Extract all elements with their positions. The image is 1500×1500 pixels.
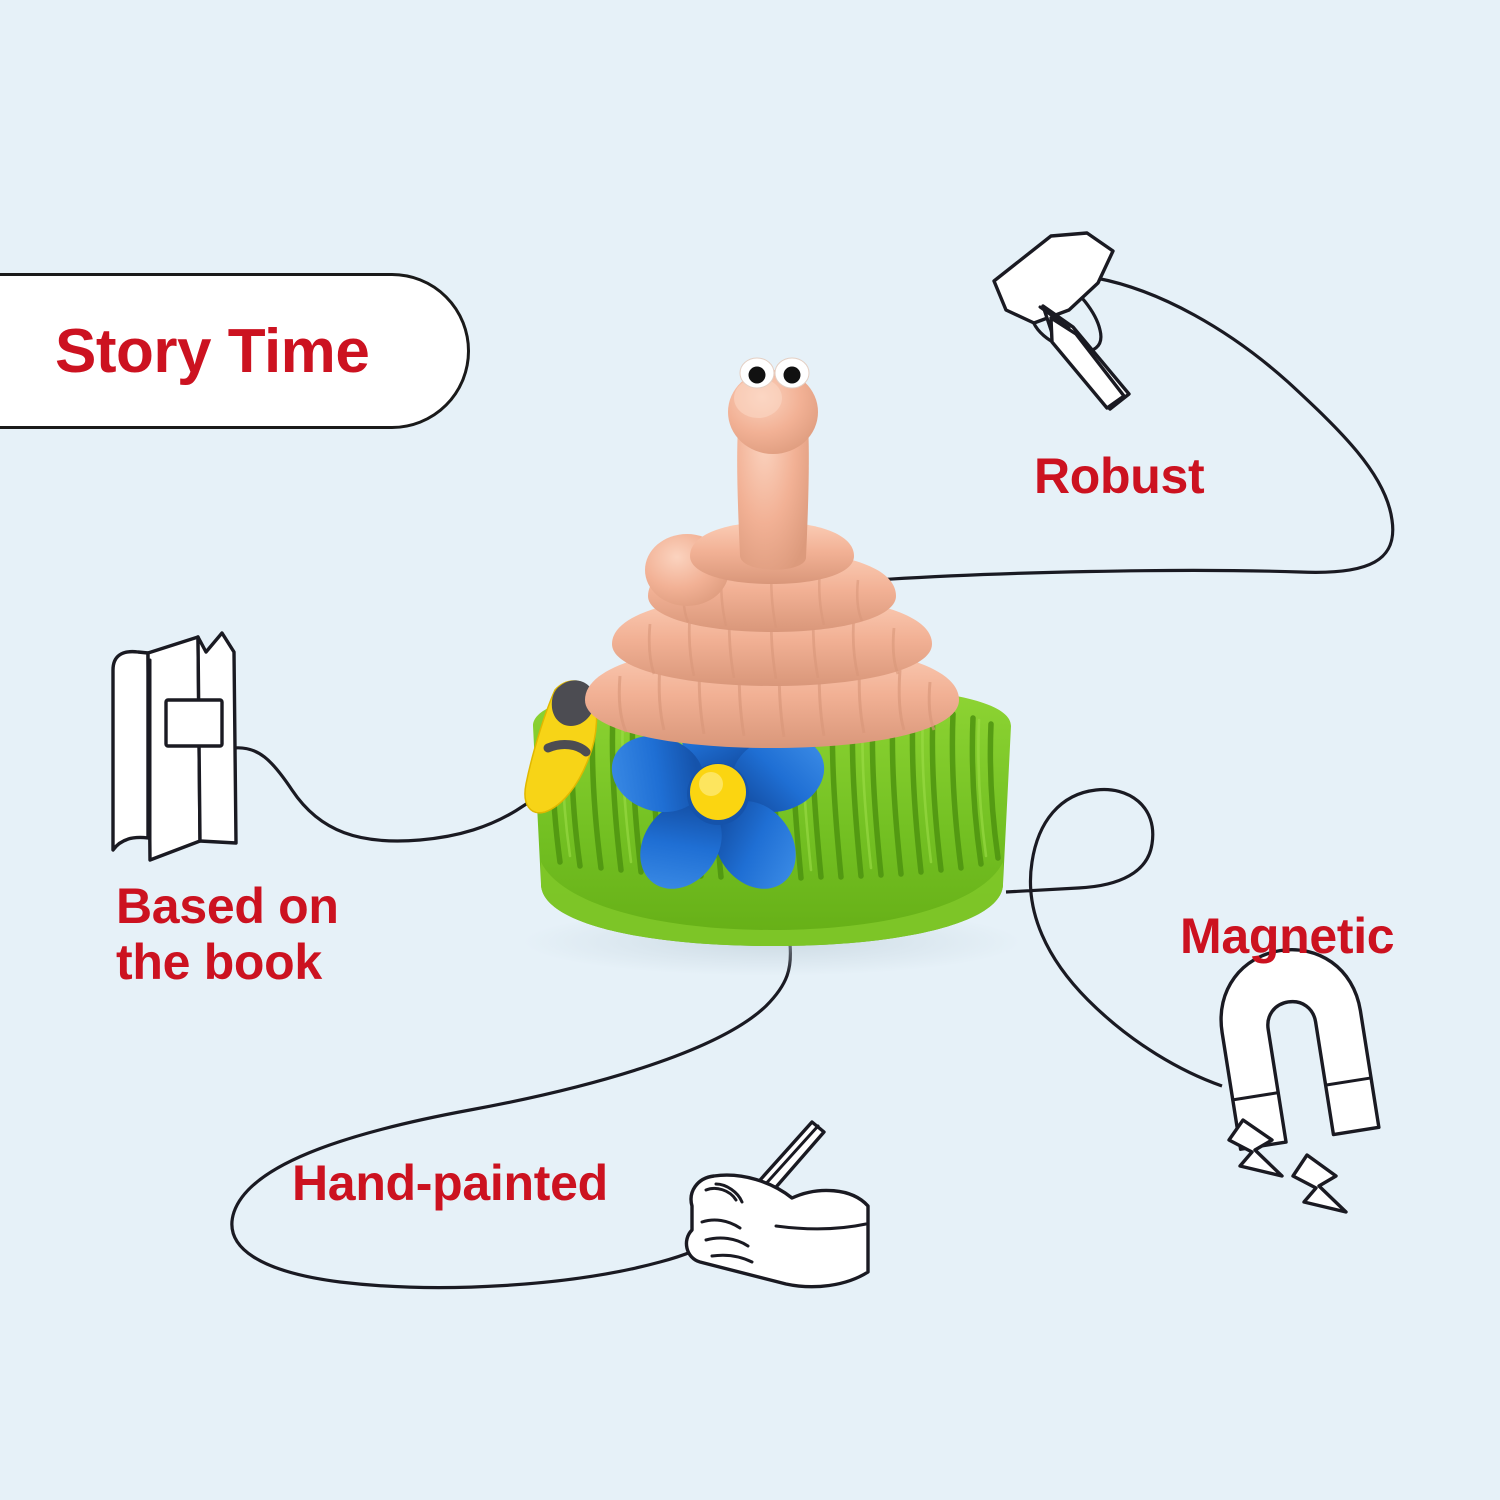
story-time-badge-label: Story Time bbox=[55, 316, 369, 387]
worm-eyes bbox=[740, 358, 809, 388]
hammer-icon bbox=[994, 233, 1129, 409]
connector-line-handpainted bbox=[232, 944, 791, 1288]
feature-icons-layer bbox=[0, 0, 1500, 1500]
story-time-badge: Story Time bbox=[0, 273, 470, 429]
worm-coils bbox=[585, 522, 959, 748]
feature-label-robust: Robust bbox=[1034, 448, 1204, 504]
connector-line-book bbox=[234, 706, 636, 841]
magnet-sparks-icon bbox=[1229, 1120, 1346, 1212]
feature-label-magnetic: Magnetic bbox=[1180, 908, 1394, 964]
book-icon bbox=[113, 633, 236, 860]
product-figurine bbox=[0, 0, 1500, 1500]
feature-label-hand-painted: Hand-painted bbox=[292, 1155, 608, 1211]
grass-blades-highlight bbox=[562, 705, 986, 870]
connector-line-robust bbox=[876, 276, 1393, 580]
worm-tail-lump bbox=[645, 534, 729, 606]
hand-with-paintbrush-icon bbox=[686, 1122, 868, 1287]
connector-lines-layer bbox=[0, 0, 1500, 1500]
grass-base bbox=[533, 684, 1011, 946]
infographic-canvas: Story Time Robust Based on the book Magn… bbox=[0, 0, 1500, 1500]
feature-label-based-on-the-book: Based on the book bbox=[116, 878, 339, 990]
magnet-icon bbox=[1211, 940, 1379, 1150]
bee-figure bbox=[525, 680, 597, 812]
product-shadow bbox=[522, 908, 1022, 976]
flower-figure bbox=[602, 684, 834, 905]
worm-head bbox=[728, 358, 818, 570]
grass-blades bbox=[552, 704, 998, 878]
